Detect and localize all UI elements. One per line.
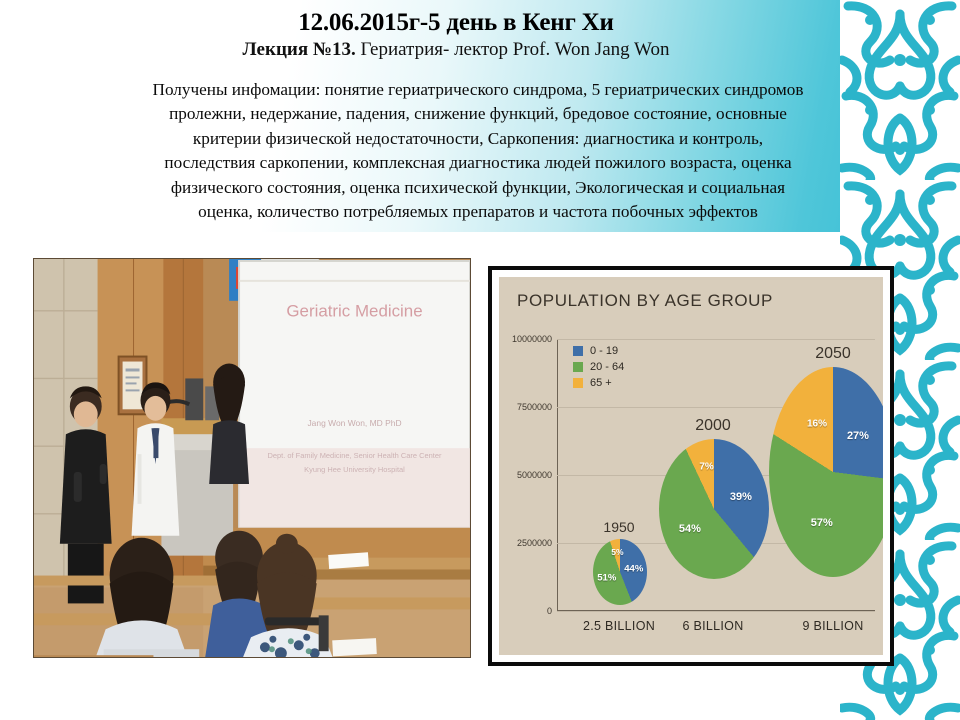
slice-label-0-19: 27%	[847, 430, 869, 442]
svg-text:Geriatric Medicine: Geriatric Medicine	[286, 302, 422, 321]
legend-swatch-0-19-icon	[573, 346, 583, 356]
legend-label: 20 - 64	[590, 361, 624, 373]
summary-line: оценка, количество потребляемых препарат…	[22, 200, 934, 224]
y-axis-tick-label: 7500000	[517, 402, 552, 412]
legend-label: 0 - 19	[590, 345, 618, 357]
chart-title: POPULATION BY AGE GROUP	[517, 291, 773, 311]
y-axis-tick-label: 5000000	[517, 470, 552, 480]
lecture-number: Лекция №13.	[243, 39, 356, 60]
legend-item: 65 +	[573, 377, 624, 389]
lecture-topic-lecturer: Гериатрия- лектор Prof. Won Jang Won	[356, 39, 670, 60]
summary-line: критерии физической недостаточности, Сар…	[22, 127, 934, 151]
lecture-summary-text: Получены инфомации: понятие гериатрическ…	[22, 78, 934, 225]
gridline: 10000000	[557, 339, 875, 340]
slice-label-65plus: 16%	[807, 419, 827, 430]
svg-text:Dept. of Family Medicine, Seni: Dept. of Family Medicine, Senior Health …	[268, 451, 442, 460]
title-block: 12.06.2015г-5 день в Кенг Хи Лекция №13.…	[0, 8, 912, 62]
chart-legend: 0 - 19 20 - 64 65 +	[573, 345, 624, 393]
pie-year-label: 2000	[695, 417, 731, 435]
summary-line: Получены инфомации: понятие гериатрическ…	[22, 78, 934, 102]
pie-chart-2000[interactable]	[659, 439, 769, 579]
legend-swatch-20-64-icon	[573, 362, 583, 372]
y-axis-tick-label: 2500000	[517, 538, 552, 548]
pie-year-label: 2050	[815, 345, 851, 363]
slice-label-20-64: 54%	[679, 523, 701, 535]
x-axis-tick-label: 2.5 BILLION	[583, 619, 655, 633]
population-chart-frame: POPULATION BY AGE GROUP 10000000 7500000…	[488, 266, 894, 666]
slice-label-0-19: 44%	[624, 563, 643, 574]
pie-year-label: 1950	[603, 519, 634, 535]
svg-text:Kyung Hee University Hospital: Kyung Hee University Hospital	[304, 465, 405, 474]
y-axis-tick-label: 0	[547, 606, 552, 616]
legend-label: 65 +	[590, 377, 612, 389]
lecture-hall-photo-image: Geriatric Medicine Jang Won Won, MD PhD …	[34, 259, 470, 657]
slice-label-20-64: 57%	[811, 517, 833, 529]
slice-label-0-19: 39%	[730, 491, 752, 503]
lecture-hall-photo: Geriatric Medicine Jang Won Won, MD PhD …	[33, 258, 471, 658]
slice-label-20-64: 51%	[597, 572, 616, 583]
summary-line: физического состояния, оценка психическо…	[22, 176, 934, 200]
page-title: 12.06.2015г-5 день в Кенг Хи	[0, 8, 912, 37]
lecture-subtitle: Лекция №13. Гериатрия- лектор Prof. Won …	[0, 39, 912, 62]
gridline: 0	[557, 611, 875, 612]
pie-group-2050: 2050 27% 57% 16%	[763, 349, 883, 611]
summary-line: последствия саркопении, комплексная диаг…	[22, 151, 934, 175]
x-axis-tick-label: 6 BILLION	[682, 619, 743, 633]
chart-plot-area: 10000000 7500000 5000000 2500000 0	[557, 339, 875, 611]
slice-label-65plus: 7%	[699, 461, 713, 472]
slide-canvas: 12.06.2015г-5 день в Кенг Хи Лекция №13.…	[0, 0, 960, 720]
svg-text:Jang Won Won, MD PhD: Jang Won Won, MD PhD	[307, 418, 401, 428]
legend-swatch-65plus-icon	[573, 378, 583, 388]
population-chart: POPULATION BY AGE GROUP 10000000 7500000…	[499, 277, 883, 655]
legend-item: 20 - 64	[573, 361, 624, 373]
legend-item: 0 - 19	[573, 345, 624, 357]
pie-group-2000: 2000 39% 54% 7%	[645, 419, 781, 611]
y-axis-tick-label: 10000000	[512, 334, 552, 344]
slice-label-65plus: 5%	[611, 547, 623, 557]
summary-line: пролежни, недержание, падения, снижение …	[22, 102, 934, 126]
x-axis-tick-label: 9 BILLION	[802, 619, 863, 633]
pie-chart-2050[interactable]	[769, 367, 883, 577]
